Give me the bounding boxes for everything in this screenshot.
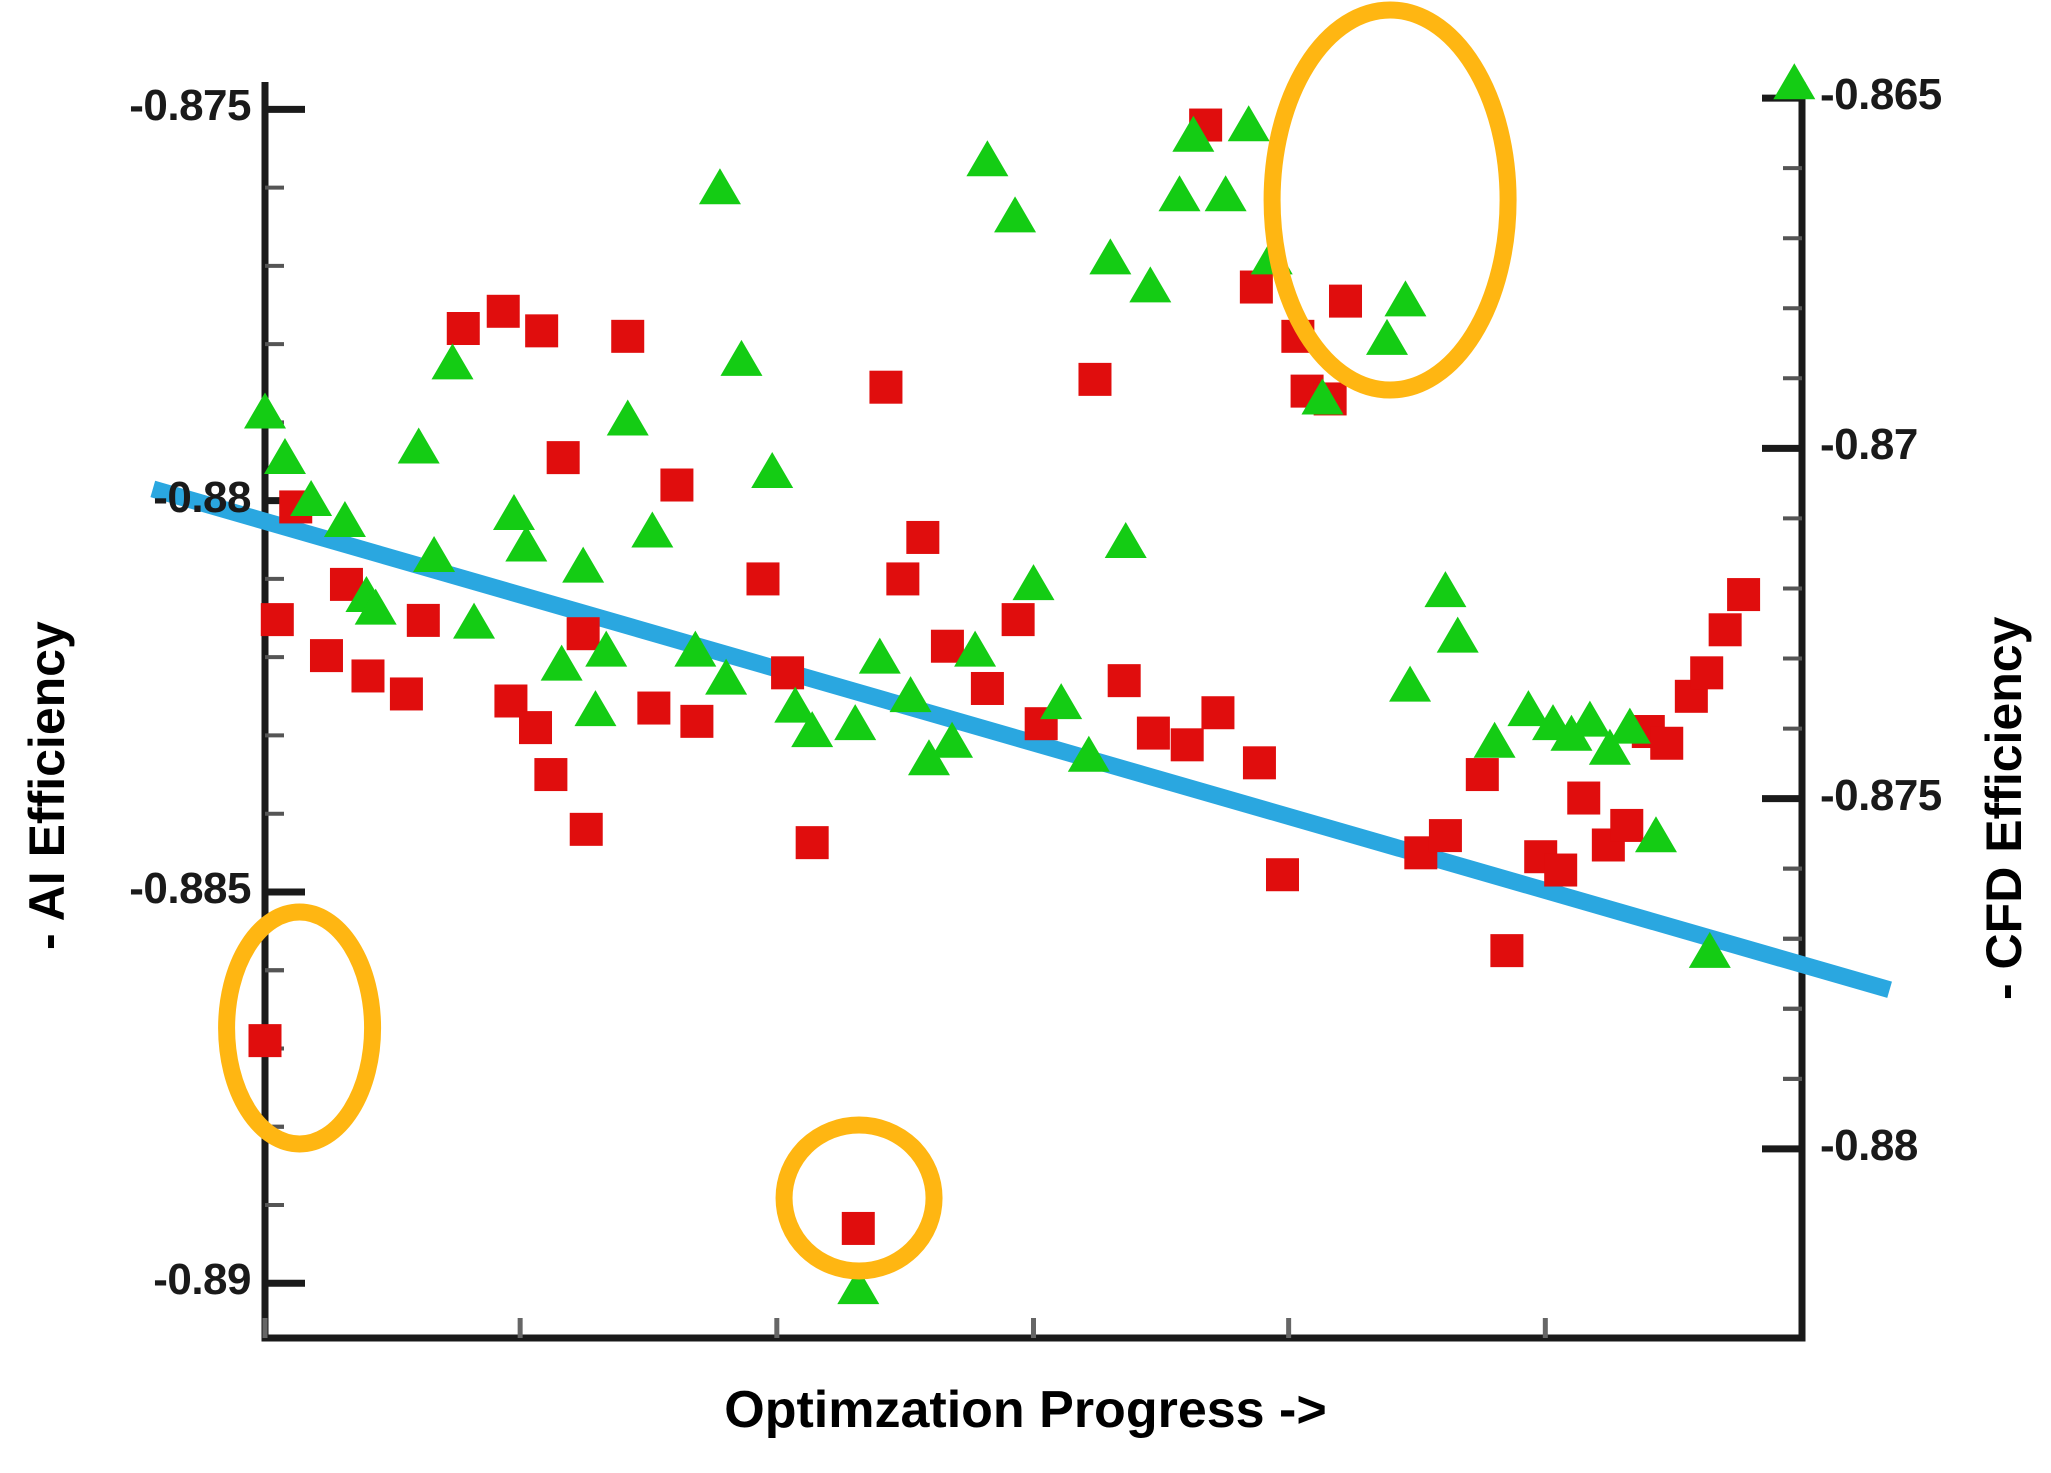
cfd-efficiency-marker xyxy=(966,140,1008,176)
cfd-efficiency-marker xyxy=(324,501,366,537)
right-axis-tick-label: -0.88 xyxy=(1820,1121,1918,1171)
ai-efficiency-marker xyxy=(771,656,804,689)
cfd-efficiency-marker xyxy=(505,526,547,562)
cfd-efficiency-marker xyxy=(562,547,604,583)
ai-efficiency-marker xyxy=(249,1024,282,1057)
ai-efficiency-marker xyxy=(1266,858,1299,891)
ai-efficiency-marker xyxy=(680,705,713,738)
ai-efficiency-marker xyxy=(1610,809,1643,842)
ai-efficiency-marker xyxy=(1201,696,1234,729)
left-axis-tick-label: -0.875 xyxy=(0,81,251,131)
cfd-efficiency-marker xyxy=(751,452,793,488)
ai-efficiency-marker xyxy=(1240,271,1273,304)
ai-efficiency-marker xyxy=(1078,363,1111,396)
x-axis-title: Optimzation Progress -> xyxy=(0,1380,2051,1440)
cfd-efficiency-marker xyxy=(1013,564,1055,600)
cfd-efficiency-marker xyxy=(631,512,673,548)
ai-efficiency-marker xyxy=(611,320,644,353)
highlight-annotations xyxy=(227,10,1509,1271)
ai-efficiency-marker xyxy=(906,521,939,554)
cfd-efficiency-marker xyxy=(1507,690,1549,726)
scatter-chart-figure: -0.875 -0.88 -0.885 -0.89 -0.865 -0.87 -… xyxy=(0,0,2051,1473)
cfd-efficiency-marker xyxy=(1384,280,1426,316)
ai-efficiency-marker xyxy=(261,603,294,636)
cfd-efficiency-marker xyxy=(1228,105,1270,141)
cfd-efficiency-marker xyxy=(1089,238,1131,274)
cfd-efficiency-marker xyxy=(1159,175,1201,211)
cfd-efficiency-marker xyxy=(1773,63,1815,99)
cfd-efficiency-marker xyxy=(607,399,649,435)
ai-efficiency-marker xyxy=(570,813,603,846)
ai-efficiency-marker xyxy=(1544,854,1577,887)
cfd-efficiency-marker xyxy=(432,343,474,379)
ai-efficiency-marker xyxy=(1171,728,1204,761)
ai-efficiency-marker xyxy=(447,312,480,345)
cfd-efficiency-marker xyxy=(834,704,876,740)
y-axis-right-title: - CFD Efficiency xyxy=(1975,617,2033,1000)
y-axis-left-title: - AI Efficiency xyxy=(18,621,76,950)
ai-efficiency-marker xyxy=(1137,717,1170,750)
ai-efficiency-marker xyxy=(1002,603,1035,636)
cfd-efficiency-marker xyxy=(1569,701,1611,737)
cfd-efficiency-marker xyxy=(1040,683,1082,719)
cfd-efficiency-marker xyxy=(1105,522,1147,558)
ai-efficiency-marker xyxy=(1567,782,1600,815)
ai-efficiency-marker xyxy=(637,692,670,725)
cfd-efficiency-marker xyxy=(1437,617,1479,653)
ai-efficiency-marker xyxy=(525,314,558,347)
ai-efficiency-marker xyxy=(534,758,567,791)
ai-efficiency-marker xyxy=(519,711,552,744)
left-axis-tick-label: -0.88 xyxy=(0,473,251,523)
cfd-efficiency-marker xyxy=(1474,722,1516,758)
ai-efficiency-marker xyxy=(567,617,600,650)
cfd-efficiency-marker xyxy=(1129,266,1171,302)
cfd-efficiency-marker xyxy=(493,494,535,530)
cfd-efficiency-marker xyxy=(398,427,440,463)
cfd-efficiency-marker xyxy=(244,392,286,428)
cfd-efficiency-marker xyxy=(720,340,762,376)
cfd-efficiency-marker xyxy=(413,536,455,572)
ai-efficiency-marker xyxy=(796,826,829,859)
ai-efficiency-marker xyxy=(931,630,964,663)
ai-efficiency-marker xyxy=(1429,819,1462,852)
highlight-bottom-center xyxy=(784,1125,934,1271)
ai-efficiency-marker xyxy=(1650,727,1683,760)
ai-efficiency-marker xyxy=(351,659,384,692)
right-axis-tick-label: -0.865 xyxy=(1820,70,1942,120)
ai-efficiency-marker xyxy=(547,441,580,474)
ai-efficiency-marker xyxy=(1727,578,1760,611)
cfd-efficiency-marker xyxy=(574,690,616,726)
ai-efficiency-marker xyxy=(746,562,779,595)
ai-efficiency-marker xyxy=(1490,934,1523,967)
data-markers xyxy=(244,63,1815,1304)
plot-canvas xyxy=(0,0,2051,1473)
cfd-efficiency-marker xyxy=(1424,571,1466,607)
cfd-efficiency-marker xyxy=(699,168,741,204)
cfd-efficiency-marker xyxy=(890,676,932,712)
ai-efficiency-marker xyxy=(487,295,520,328)
ai-efficiency-marker xyxy=(842,1212,875,1245)
cfd-efficiency-marker xyxy=(453,603,495,639)
cfd-efficiency-marker xyxy=(994,196,1036,232)
ai-efficiency-marker xyxy=(390,677,423,710)
cfd-efficiency-marker xyxy=(1389,666,1431,702)
cfd-efficiency-marker xyxy=(264,438,306,474)
ai-efficiency-marker xyxy=(1108,664,1141,697)
ai-efficiency-marker xyxy=(310,639,343,672)
right-axis-tick-label: -0.87 xyxy=(1820,420,1918,470)
ai-efficiency-marker xyxy=(1329,285,1362,318)
cfd-efficiency-marker xyxy=(859,638,901,674)
ai-efficiency-marker xyxy=(971,672,1004,705)
right-axis-tick-label: -0.875 xyxy=(1820,771,1942,821)
ai-efficiency-marker xyxy=(407,604,440,637)
cfd-efficiency-marker xyxy=(1366,319,1408,355)
ai-efficiency-marker xyxy=(869,371,902,404)
ai-efficiency-marker xyxy=(1690,656,1723,689)
ai-efficiency-marker xyxy=(660,469,693,502)
ai-efficiency-marker xyxy=(1466,758,1499,791)
highlight-bottom-left xyxy=(227,912,373,1144)
ai-efficiency-marker xyxy=(1243,746,1276,779)
left-axis-tick-label: -0.89 xyxy=(0,1255,251,1305)
cfd-efficiency-marker xyxy=(1205,175,1247,211)
ai-efficiency-marker xyxy=(1709,613,1742,646)
ai-efficiency-marker xyxy=(886,562,919,595)
